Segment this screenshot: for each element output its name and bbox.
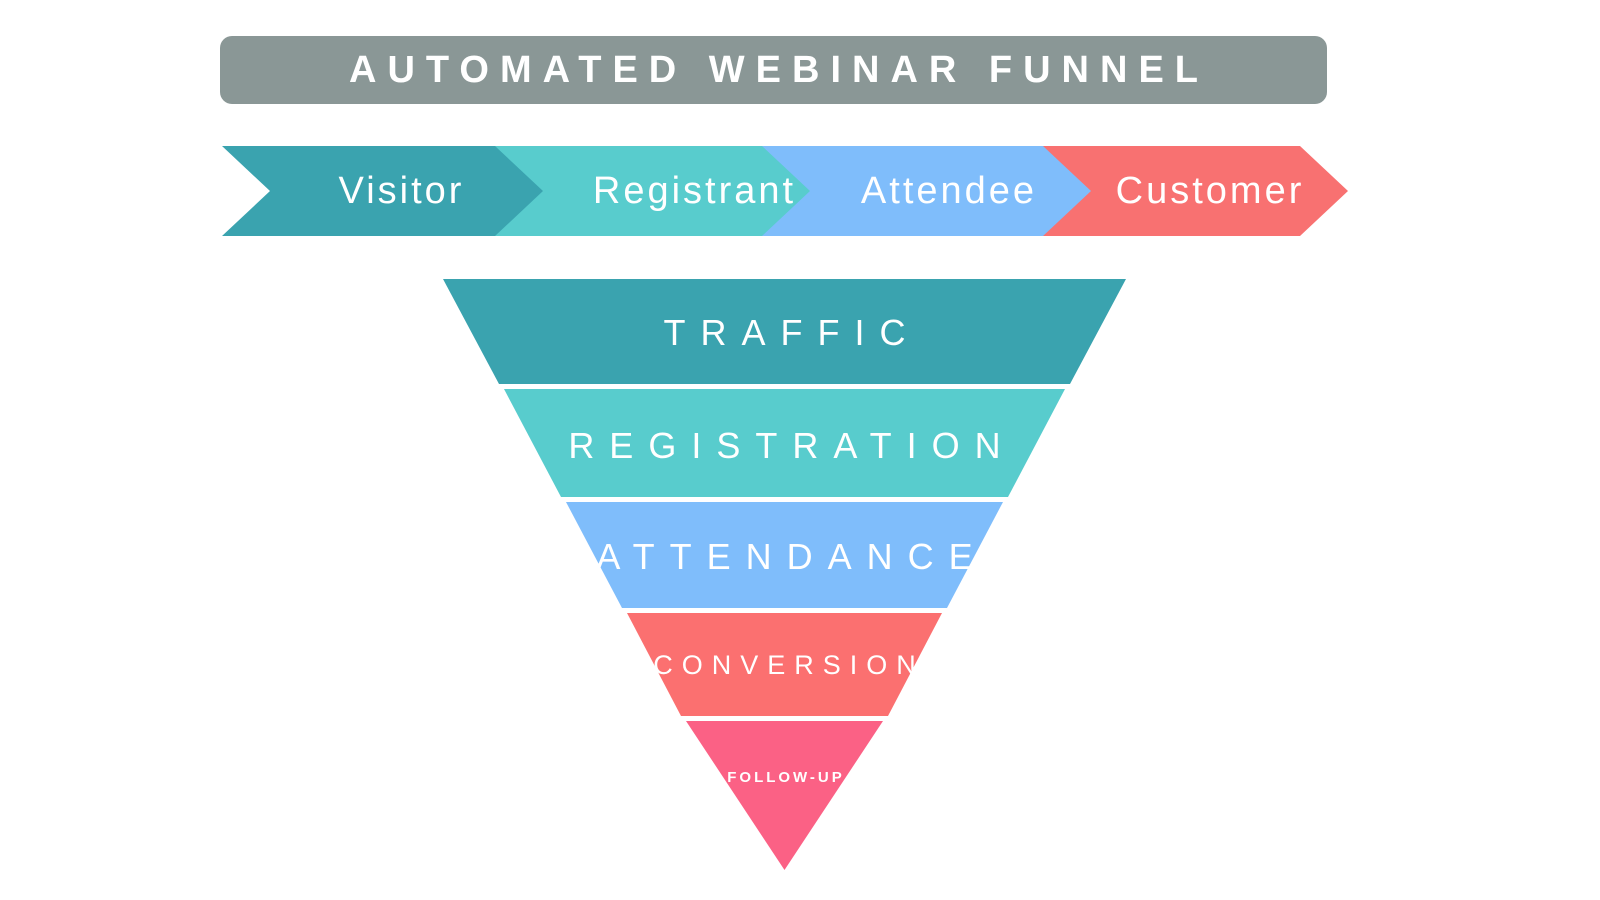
stage-label-customer: Customer	[1043, 170, 1348, 213]
funnel-band-conversion[interactable]	[627, 613, 942, 716]
funnel-band-followup[interactable]	[686, 721, 883, 870]
funnel-label-attendance: ATTENDANCE	[443, 536, 1126, 578]
funnel-band-registration[interactable]	[504, 389, 1065, 497]
stage-chevron-customer[interactable]: Customer	[1043, 146, 1348, 236]
funnel-label-traffic: TRAFFIC	[443, 312, 1126, 354]
stage-chevron-row: Visitor Registrant Attendee Customer	[0, 146, 1600, 236]
funnel-chart	[0, 0, 1600, 900]
funnel-label-registration: REGISTRATION	[443, 425, 1126, 467]
funnel-label-conversion: CONVERSION	[443, 650, 1126, 681]
page-title: AUTOMATED WEBINAR FUNNEL	[338, 51, 1209, 89]
funnel-band-traffic[interactable]	[443, 279, 1126, 384]
funnel-band-attendance[interactable]	[566, 502, 1003, 608]
funnel-label-followup: FOLLOW-UP	[443, 769, 1126, 786]
funnel-infographic: AUTOMATED WEBINAR FUNNEL Visitor Registr…	[0, 0, 1600, 900]
page-title-banner: AUTOMATED WEBINAR FUNNEL	[220, 36, 1327, 104]
